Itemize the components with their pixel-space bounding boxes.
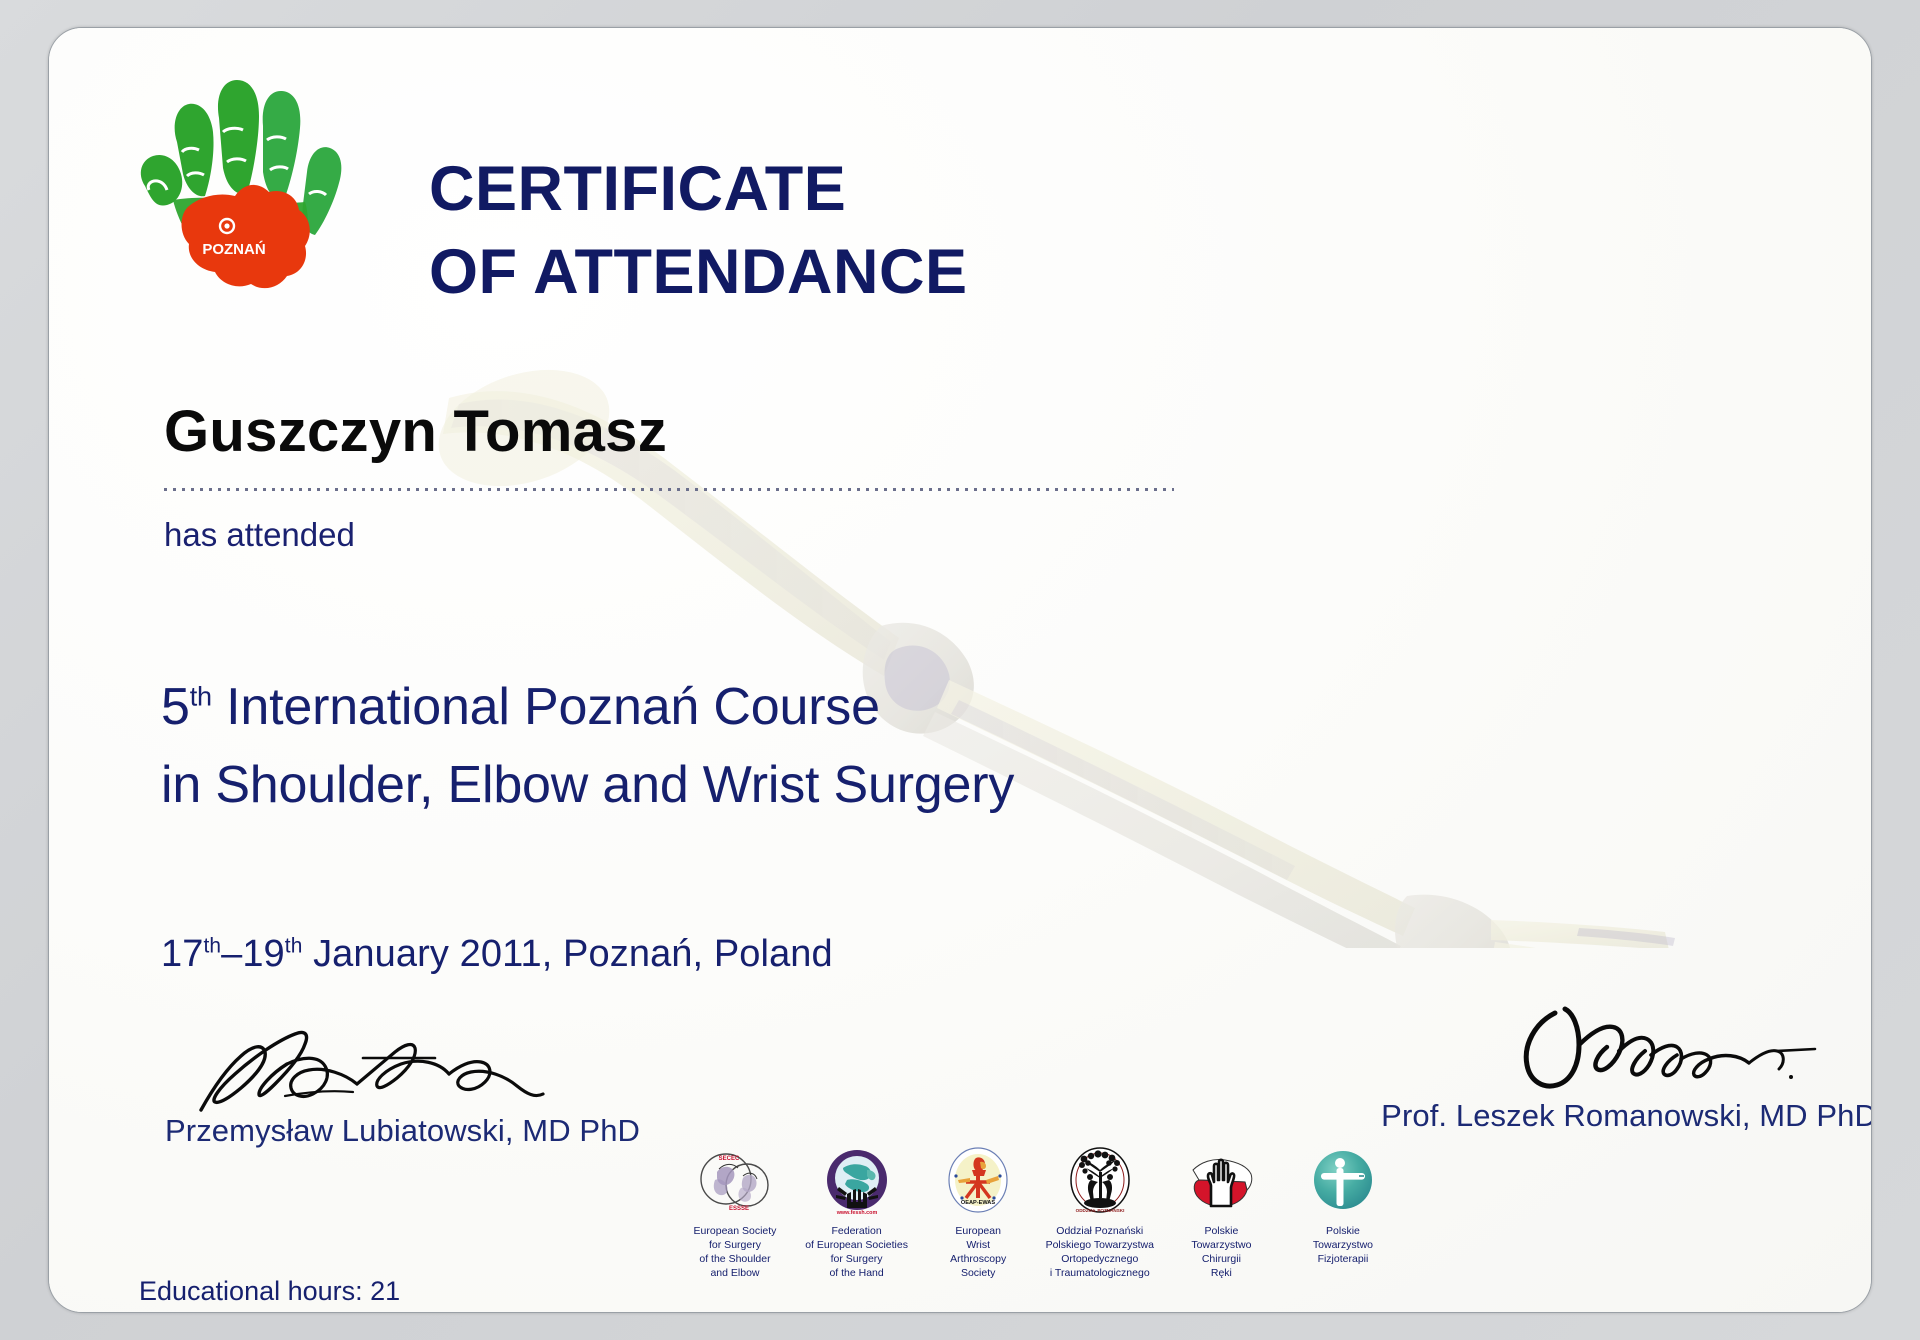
date-range-dash: – — [221, 933, 242, 975]
signature-mark-lubiatowski — [147, 1018, 667, 1113]
attendance-phrase: has attended — [164, 516, 355, 554]
date-rest: January 2011, Poznań, Poland — [302, 933, 832, 975]
polish-hand-surgery-emblem — [1185, 1146, 1257, 1218]
day-to-suffix: th — [285, 934, 303, 957]
signature-block-right: Prof. Leszek Romanowski, MD PhD — [1379, 1003, 1872, 1134]
society-ewas: OEAP-EWAS European Wrist Arthroscopy Soc… — [922, 1146, 1034, 1280]
svg-text:ODDZIAŁ POZNAŃSKI: ODDZIAŁ POZNAŃSKI — [1075, 1206, 1124, 1213]
course-ordinal: 5 — [161, 678, 190, 736]
ptoitr-tree-emblem: ODDZIAŁ POZNAŃSKI — [1064, 1146, 1136, 1218]
name-dotted-rule — [164, 488, 1174, 491]
signatory-name-lubiatowski: Przemysław Lubiatowski, MD PhD — [147, 1113, 667, 1149]
poznan-handprint-logo: POZNAŃ — [127, 78, 357, 298]
ewas-arthroscopy-emblem: OEAP-EWAS — [942, 1146, 1014, 1218]
day-from-suffix: th — [203, 934, 221, 957]
title-block: CERTIFICATE OF ATTENDANCE — [429, 148, 967, 314]
course-ordinal-suffix: th — [190, 682, 212, 712]
course-title-rest: International Poznań Course — [212, 678, 880, 736]
svg-text:OEAP-EWAS: OEAP-EWAS — [961, 1200, 995, 1206]
society-hand-surgery: Polskie Towarzystwo Chirurgii Ręki — [1165, 1146, 1277, 1280]
society-physiotherapy: Polskie Towarzystwo Fizjoterapii — [1287, 1146, 1399, 1266]
secec-esse-emblem: SECEC ESSSE — [699, 1146, 771, 1218]
poznan-city-label: POZNAŃ — [202, 241, 265, 258]
certificate-card: POZNAŃ CERTIFICATE OF ATTENDANCE Guszczy… — [48, 27, 1872, 1313]
society-caption-physiotherapy: Polskie Towarzystwo Fizjoterapii — [1313, 1224, 1373, 1266]
society-caption-ptoitr: Oddział Poznański Polskiego Towarzystwa … — [1046, 1224, 1154, 1280]
svg-text:ESSSE: ESSSE — [729, 1206, 749, 1212]
polish-physiotherapy-emblem — [1307, 1146, 1379, 1218]
signature-block-left: Przemysław Lubiatowski, MD PhD — [147, 1018, 667, 1149]
course-title-line-2: in Shoulder, Elbow and Wrist Surgery — [161, 746, 1014, 824]
signature-mark-romanowski — [1379, 1003, 1872, 1098]
society-caption-secec: European Society for Surgery of the Shou… — [694, 1224, 777, 1280]
day-from: 17 — [161, 933, 203, 975]
society-secec-esse: SECEC ESSSE European Society for Surgery… — [679, 1146, 791, 1280]
recipient-name: Guszczyn Tomasz — [164, 398, 667, 465]
certificate-title-line-2: OF ATTENDANCE — [429, 231, 967, 314]
society-caption-ewas: European Wrist Arthroscopy Society — [950, 1224, 1006, 1280]
event-date-line: 17th–19th January 2011, Poznań, Poland — [161, 933, 833, 976]
society-caption-hand-surgery: Polskie Towarzystwo Chirurgii Ręki — [1191, 1224, 1251, 1280]
fessh-globe-hands-emblem: www.fessh.com — [821, 1146, 893, 1218]
day-to: 19 — [242, 933, 284, 975]
svg-text:www.fessh.com: www.fessh.com — [835, 1210, 877, 1216]
certificate-title-line-1: CERTIFICATE — [429, 148, 967, 231]
course-title-line-1: 5th International Poznań Course — [161, 668, 1014, 746]
course-title: 5th International Poznań Course in Shoul… — [161, 668, 1014, 824]
society-ptoitr-poznan: ODDZIAŁ POZNAŃSKI Oddział Poznański Pols… — [1044, 1146, 1156, 1280]
poland-map-shape: POZNAŃ — [182, 185, 310, 288]
society-logos-row: SECEC ESSSE European Society for Surgery… — [679, 1146, 1399, 1280]
society-caption-fessh: Federation of European Societies for Sur… — [805, 1224, 908, 1280]
educational-hours-label: Educational hours: 21 — [139, 1276, 400, 1307]
society-fessh: www.fessh.com Federation of European Soc… — [801, 1146, 913, 1280]
svg-text:SECEC: SECEC — [719, 1156, 740, 1162]
signatory-name-romanowski: Prof. Leszek Romanowski, MD PhD — [1379, 1098, 1872, 1134]
